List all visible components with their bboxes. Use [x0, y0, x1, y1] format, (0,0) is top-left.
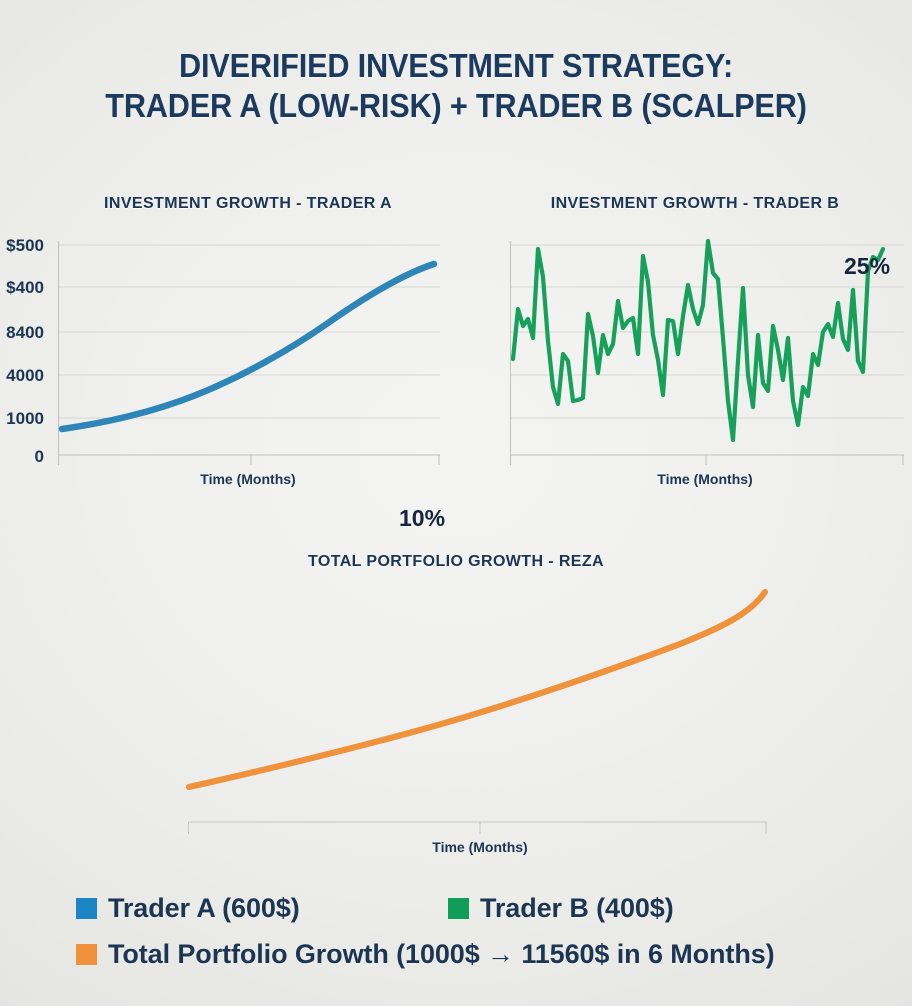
x-axis-label-total-portfolio: Time (Months) — [180, 839, 780, 855]
legend-item-trader-a: Trader A (600$) — [76, 893, 300, 924]
x-axis-label-trader-b: Time (Months) — [510, 471, 900, 487]
legend-swatch-trader-a — [76, 898, 97, 919]
y-tick: 1000 — [0, 410, 44, 427]
chart-panel-trader-b: INVESTMENT GROWTH - TRADER B $500 $400 8… — [452, 195, 912, 495]
legend-item-total-portfolio: Total Portfolio Growth (1000$ → 11560$ i… — [76, 939, 775, 970]
chart-title-trader-a: INVESTMENT GROWTH - TRADER A — [58, 195, 438, 213]
chart-panel-trader-a: INVESTMENT GROWTH - TRADER A $600 $600 8… — [0, 195, 460, 495]
legend-swatch-trader-b — [448, 898, 469, 919]
y-tick: 0 — [0, 448, 44, 465]
y-tick: 8400 — [0, 324, 44, 341]
y-tick: 4000 — [0, 367, 44, 384]
y-tick: $400 — [0, 279, 44, 296]
page-title-line-1: DIVERIFIED INVESTMENT STRATEGY: — [32, 46, 880, 86]
legend-label-total-portfolio: Total Portfolio Growth (1000$ → 11560$ i… — [108, 939, 775, 970]
legend-item-trader-b: Trader B (400$) — [448, 893, 674, 924]
page-title: DIVERIFIED INVESTMENT STRATEGY: TRADER A… — [32, 46, 880, 126]
legend-label-trader-a: Trader A (600$) — [108, 893, 300, 924]
legend-label-trader-b: Trader B (400$) — [480, 893, 674, 924]
legend-row-1: Trader A (600$) Trader B (400$) — [76, 893, 876, 939]
y-tick: $500 — [0, 237, 44, 254]
legend-swatch-total-portfolio — [76, 944, 97, 965]
annotation-trader-b: 25% — [844, 253, 890, 280]
x-axis-label-trader-a: Time (Months) — [58, 471, 438, 487]
legend-row-2: Total Portfolio Growth (1000$ → 11560$ i… — [76, 939, 876, 985]
chart-title-trader-b: INVESTMENT GROWTH - TRADER B — [500, 195, 890, 213]
plot-area-total-portfolio — [180, 580, 780, 880]
plot-area-trader-a — [56, 235, 446, 465]
chart-panel-total-portfolio: TOTAL PORTFOLIO GROWTH - REZA Time (Mont… — [0, 540, 912, 860]
chart-title-total-portfolio: TOTAL PORTFOLIO GROWTH - REZA — [0, 553, 912, 571]
annotation-trader-a: 10% — [399, 505, 445, 532]
page-title-line-2: TRADER A (LOW-RISK) + TRADER B (SCALPER) — [32, 86, 880, 126]
legend: Trader A (600$) Trader B (400$) Total Po… — [76, 893, 876, 985]
